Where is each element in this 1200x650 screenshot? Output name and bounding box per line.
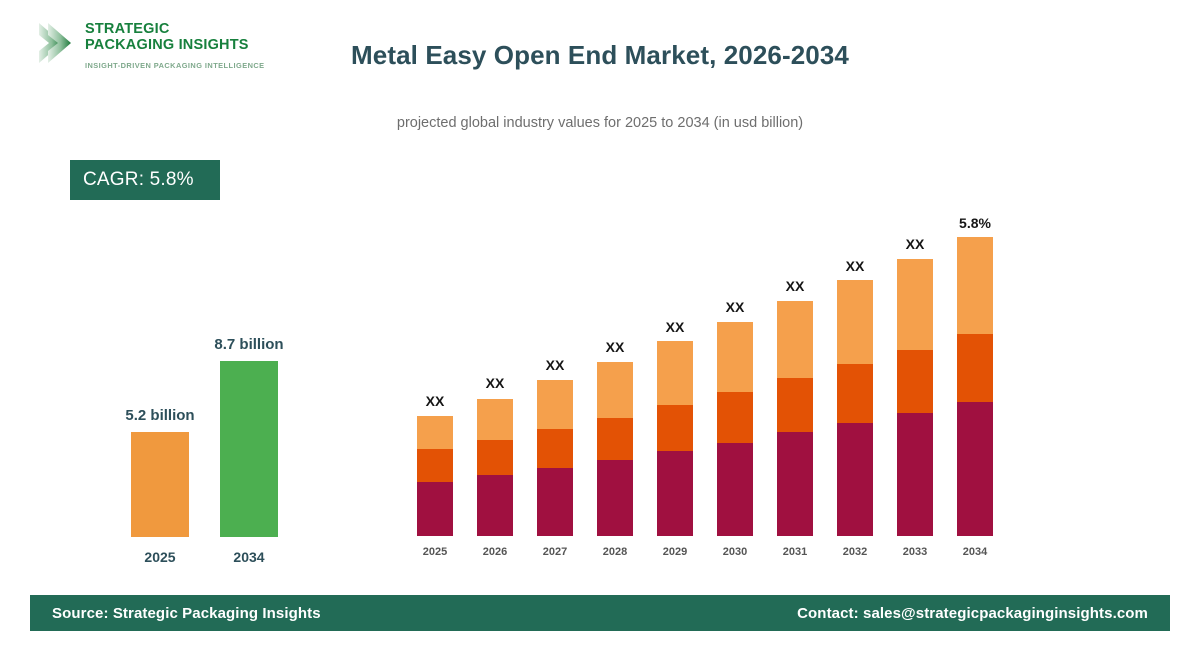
- bar-segment-segment-3-2032: [837, 280, 873, 364]
- bar-segment-segment-3-2027: [537, 380, 573, 429]
- bar-value-label-2033: XX: [875, 236, 955, 252]
- bar-category-label-2030: 2030: [705, 546, 765, 558]
- bar-segment-segment-2-2029: [657, 405, 693, 451]
- bar-segment-segment-2-2025: [417, 449, 453, 482]
- bar-value-label-2028: XX: [575, 339, 655, 355]
- page-subtitle: projected global industry values for 202…: [0, 115, 1200, 131]
- bar-2034: [220, 361, 278, 537]
- bar-category-label-2034: 2034: [189, 549, 309, 565]
- bar-category-label-2034: 2034: [945, 546, 1005, 558]
- stacked-bar-2034: [957, 237, 993, 536]
- bar-segment-segment-2-2033: [897, 350, 933, 413]
- stacked-bar-2025: [417, 416, 453, 536]
- bar-value-label-2034: 5.8%: [935, 215, 1015, 231]
- bar-value-label-2025: 5.2 billion: [100, 407, 220, 424]
- bar-value-label-2025: XX: [395, 393, 475, 409]
- bar-segment-segment-2-2027: [537, 429, 573, 468]
- bar-segment-segment-1-2025: [417, 482, 453, 536]
- bar-segment-segment-1-2034: [957, 402, 993, 536]
- stacked-bar-2033: [897, 259, 933, 536]
- bar-value-label-2032: XX: [815, 258, 895, 274]
- bar-value-label-2027: XX: [515, 357, 595, 373]
- bar-segment-segment-3-2034: [957, 237, 993, 334]
- bar-segment-segment-3-2033: [897, 259, 933, 350]
- bar-category-label-2028: 2028: [585, 546, 645, 558]
- bar-segment-segment-2-2032: [837, 364, 873, 423]
- annual-stacked-forecast-chart: XX2025XX2026XX2027XX2028XX2029XX2030XX20…: [400, 190, 1040, 560]
- infographic-page: STRATEGIC PACKAGING INSIGHTS INSIGHT-DRI…: [0, 0, 1200, 650]
- cagr-badge: CAGR: 5.8%: [70, 160, 220, 200]
- bar-segment-segment-2-2031: [777, 378, 813, 432]
- bar-segment-segment-3-2025: [417, 416, 453, 449]
- bar-category-label-2032: 2032: [825, 546, 885, 558]
- bar-segment-segment-1-2029: [657, 451, 693, 536]
- bar-category-label-2031: 2031: [765, 546, 825, 558]
- footer-source: Source: Strategic Packaging Insights: [52, 605, 321, 622]
- bar-category-label-2029: 2029: [645, 546, 705, 558]
- cagr-badge-label: CAGR: 5.8%: [83, 169, 194, 191]
- bar-category-label-2026: 2026: [465, 546, 525, 558]
- bar-value-label-2034: 8.7 billion: [189, 336, 309, 353]
- stacked-bar-2027: [537, 380, 573, 536]
- stacked-bar-2029: [657, 341, 693, 536]
- bar-segment-segment-3-2026: [477, 399, 513, 440]
- bar-segment-segment-1-2032: [837, 423, 873, 536]
- logo-line-1: STRATEGIC: [85, 22, 249, 38]
- bar-segment-segment-3-2030: [717, 322, 753, 392]
- bar-value-label-2031: XX: [755, 278, 835, 294]
- footer-bar: Source: Strategic Packaging Insights Con…: [30, 595, 1170, 631]
- bar-value-label-2029: XX: [635, 319, 715, 335]
- bar-segment-segment-1-2027: [537, 468, 573, 536]
- bar-segment-segment-3-2028: [597, 362, 633, 418]
- bar-category-label-2025: 2025: [405, 546, 465, 558]
- bar-segment-segment-1-2028: [597, 460, 633, 536]
- page-title: Metal Easy Open End Market, 2026-2034: [0, 40, 1200, 71]
- bar-segment-segment-1-2026: [477, 475, 513, 536]
- bar-segment-segment-2-2028: [597, 418, 633, 460]
- bar-segment-segment-1-2033: [897, 413, 933, 536]
- bar-segment-segment-2-2026: [477, 440, 513, 475]
- bar-segment-segment-1-2031: [777, 432, 813, 536]
- footer-contact: Contact: sales@strategicpackaginginsight…: [797, 605, 1148, 622]
- stacked-bar-2028: [597, 362, 633, 536]
- bar-segment-segment-1-2030: [717, 443, 753, 536]
- bar-2025: [131, 432, 189, 537]
- bar-value-label-2030: XX: [695, 299, 775, 315]
- bar-category-label-2027: 2027: [525, 546, 585, 558]
- bar-value-label-2026: XX: [455, 375, 535, 391]
- endpoint-comparison-chart: 5.2 billion20258.7 billion2034: [50, 320, 300, 570]
- stacked-bar-2032: [837, 280, 873, 536]
- bar-segment-segment-2-2030: [717, 392, 753, 443]
- bar-category-label-2033: 2033: [885, 546, 945, 558]
- stacked-bar-2026: [477, 399, 513, 536]
- bar-segment-segment-3-2029: [657, 341, 693, 405]
- stacked-bar-2030: [717, 322, 753, 536]
- bar-segment-segment-3-2031: [777, 301, 813, 378]
- stacked-bar-2031: [777, 301, 813, 536]
- bar-segment-segment-2-2034: [957, 334, 993, 402]
